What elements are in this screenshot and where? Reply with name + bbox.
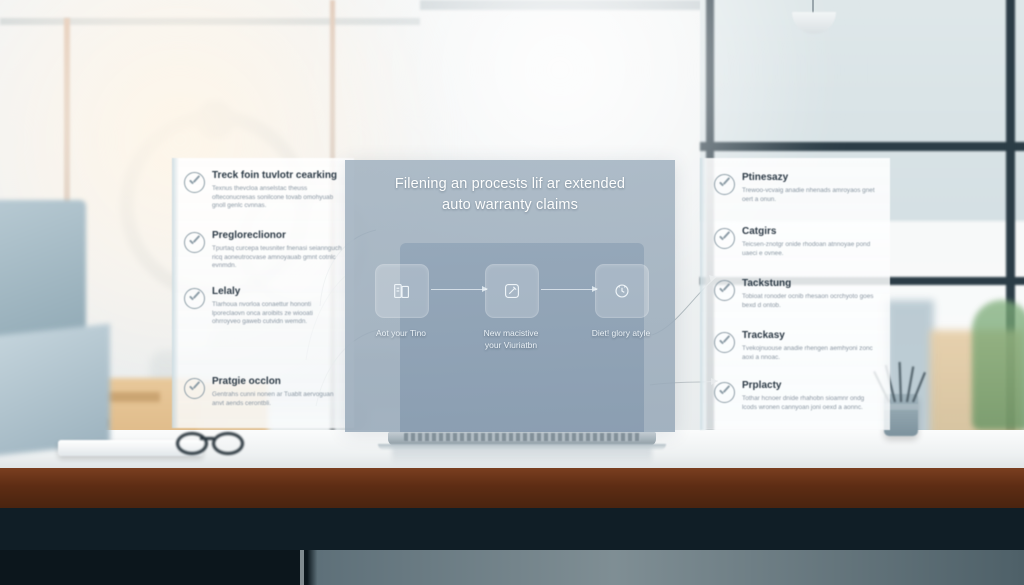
edit-square-icon [485,264,539,318]
documents-icon [375,264,429,318]
process-step-3[interactable]: Diet! glory atyle [595,264,647,339]
check-circle-icon [714,174,735,195]
check-circle-icon [184,172,205,193]
check-circle-icon [714,382,735,403]
list-item-title: Pratgie occlon [212,376,342,388]
list-item[interactable]: Catgirs Teicsen-znotgr onide rhodoan atn… [714,226,878,258]
list-item-body: Teicsen-znotgr onide rhodoan atnnoyae po… [742,241,878,258]
list-item-body: Gentrahs cunni nonen ar Tuablt aervoguan… [212,391,342,408]
list-item-title: Lelaly [212,286,342,298]
list-item[interactable]: Tackstung Tobioat ronoder ocnib rhesaon … [714,278,878,310]
eyeglasses [176,432,238,450]
left-panel-edge [172,158,179,428]
list-item-title: Ptinesazy [742,172,878,184]
list-item-title: Treck foin tuvlotr cearking [212,170,342,182]
list-item-body: Tvekojnuouse anadie rhengen aemhyoni zon… [742,345,878,362]
process-step-1[interactable]: Aot your Tino [375,264,427,339]
laptop-keyboard [404,433,640,441]
left-feature-panel: Treck foin tuvlotr cearking Texnus thevc… [172,158,354,428]
clock-badge-icon [595,264,649,318]
list-item-title: Catgirs [742,226,878,238]
list-item-body: Tothar hcnoer dnide rhahobn sioamnr ondg… [742,395,878,412]
check-circle-icon [714,228,735,249]
list-item-title: Prplacty [742,380,878,392]
arrow-right-icon [541,289,597,290]
right-feature-panel: Ptinesazy Trewoo-vcvaig anadie nhenads a… [700,158,890,430]
check-circle-icon [714,280,735,301]
process-steps: Aot your Tino New macistive your Viuriat… [355,264,665,374]
list-item-body: Trewoo-vcvaig anadie nhenads amroyaos gn… [742,187,878,204]
secondary-laptop [0,324,110,457]
list-item[interactable]: Ptinesazy Trewoo-vcvaig anadie nhenads a… [714,172,878,204]
list-item-title: Pregloreclionor [212,230,342,242]
title-line-1: Filening an procests lif ar extended [363,174,657,195]
check-circle-icon [714,332,735,353]
list-item[interactable]: Lelaly Tlarhoua nvorloa conaettur honont… [184,286,342,327]
process-step-2-label: New macistive your Viuriatbn [467,327,555,351]
list-item-title: Tackstung [742,278,878,290]
floor-band [0,550,1024,585]
list-item[interactable]: Pregloreclionor Tpurtaq curcepa teusnite… [184,230,342,271]
list-item-title: Trackasy [742,330,878,342]
process-step-3-label: Diet! glory atyle [577,327,665,339]
desk-underside-shadow [0,508,1024,550]
check-circle-icon [184,232,205,253]
list-item[interactable]: Pratgie occlon Gentrahs cunni nonen ar T… [184,376,342,408]
list-item-body: Tpurtaq curcepa teusniter fnenasi seiann… [212,245,342,271]
list-item[interactable]: Treck foin tuvlotr cearking Texnus thevc… [184,170,342,211]
floor-seam [300,550,304,585]
potted-plant [972,300,1024,430]
list-item-body: Tlarhoua nvorloa conaettur hononti lpore… [212,301,342,327]
right-panel-edge [700,158,707,430]
desk-edge [0,468,1024,510]
list-item[interactable]: Prplacty Tothar hcnoer dnide rhahobn sio… [714,380,878,412]
screenshot-root: Treck foin tuvlotr cearking Texnus thevc… [0,0,1024,585]
check-circle-icon [184,288,205,309]
list-item-body: Texnus thevcloa anselstac theuss oftecon… [212,185,342,211]
list-item[interactable]: Trackasy Tvekojnuouse anadie rhengen aem… [714,330,878,362]
list-item-body: Tobioat ronoder ocnib rhesaon ocrchyoto … [742,293,878,310]
page-title: Filening an procests lif ar extended aut… [363,174,657,216]
check-circle-icon [184,378,205,399]
process-step-1-label: Aot your Tino [357,327,445,339]
laptop-reflection [392,448,652,464]
center-overlay-panel: Filening an procests lif ar extended aut… [345,160,675,432]
arrow-right-icon [431,289,487,290]
title-line-2: auto warranty claims [363,195,657,216]
process-step-2[interactable]: New macistive your Viuriatbn [485,264,537,351]
